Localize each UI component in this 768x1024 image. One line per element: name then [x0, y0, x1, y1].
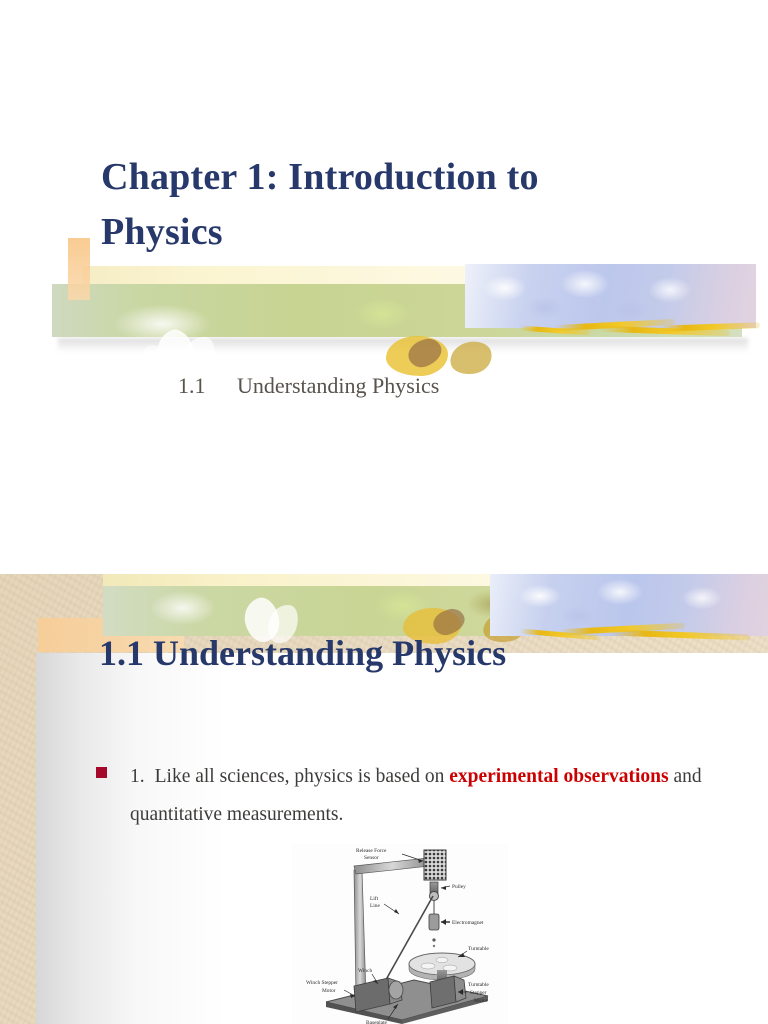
- svg-text:Winch Stepper: Winch Stepper: [306, 980, 338, 986]
- svg-text:Release Force: Release Force: [356, 848, 387, 854]
- svg-text:Motor: Motor: [322, 988, 336, 994]
- slide-1-subtitle-number: 1.1: [178, 373, 206, 398]
- band-hydrangea-section: [465, 264, 756, 328]
- slide-1-subtitle-text: Understanding Physics: [237, 373, 439, 398]
- svg-text:Electromagnet: Electromagnet: [452, 920, 484, 926]
- bullet-number: 1.: [130, 766, 145, 787]
- lift-apparatus-diagram: Release Force Sensor Pulley Lift Line El…: [292, 844, 508, 1024]
- svg-text:Stepper: Stepper: [470, 990, 487, 996]
- decorative-band-slide-1: [0, 240, 768, 360]
- bullet-highlight: experimental observations: [449, 766, 668, 787]
- bullet-text: 1.Like all sciences, physics is based on…: [130, 758, 744, 834]
- svg-text:Turntable: Turntable: [468, 946, 489, 952]
- svg-text:Winch: Winch: [358, 968, 372, 974]
- slide-2-heading: 1.1 Understanding Physics: [99, 632, 699, 674]
- svg-text:Lift: Lift: [370, 895, 379, 902]
- bullet-list-item: 1.Like all sciences, physics is based on…: [96, 758, 744, 834]
- slides-page: Chapter 1: Introduction to Physics 1.1 U…: [0, 0, 768, 1024]
- svg-text:Turntable: Turntable: [468, 982, 489, 988]
- slide-1: Chapter 1: Introduction to Physics 1.1 U…: [0, 0, 768, 574]
- bullet-segment-1: Like all sciences, physics is based on: [155, 766, 450, 787]
- slide-1-subtitle: 1.1 Understanding Physics: [178, 373, 658, 399]
- svg-text:Baseplate: Baseplate: [366, 1020, 388, 1024]
- svg-text:Line: Line: [370, 903, 380, 909]
- svg-text:Sensor: Sensor: [364, 855, 379, 861]
- square-bullet-icon: [96, 767, 107, 778]
- svg-text:Motor: Motor: [474, 998, 488, 1004]
- slide-2: 1.1 Understanding Physics 1.Like all sci…: [0, 574, 768, 1024]
- orange-accent-bar: [68, 238, 90, 300]
- svg-text:Pulley: Pulley: [452, 884, 466, 890]
